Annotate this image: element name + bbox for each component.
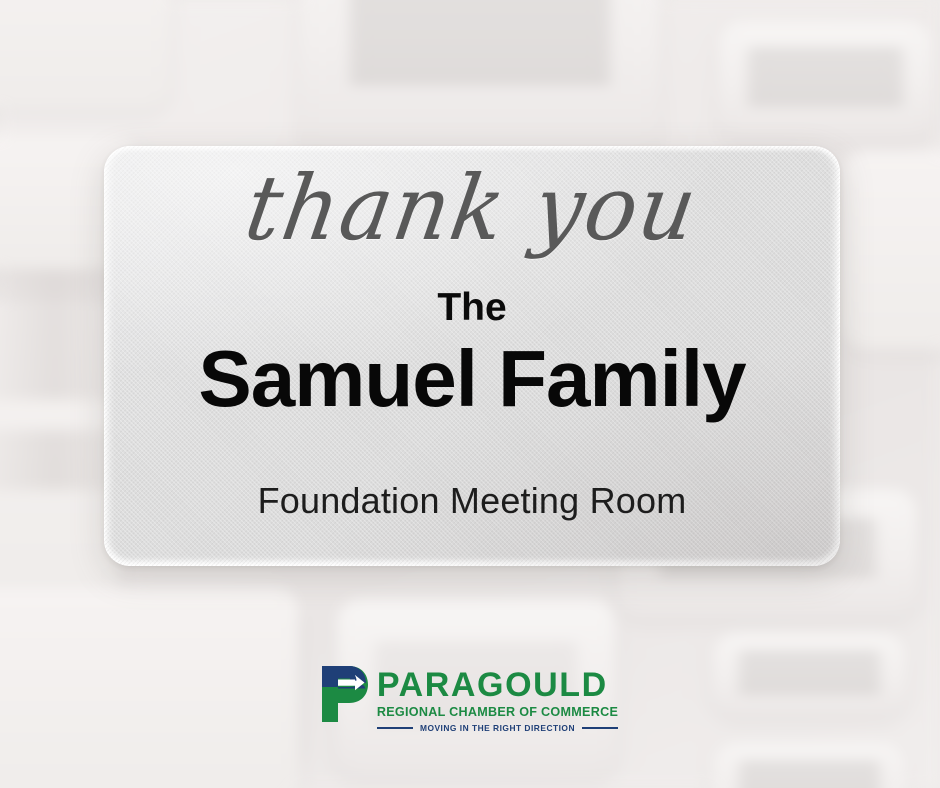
thank-you-script: thank you <box>240 164 704 253</box>
chamber-tagline: MOVING IN THE RIGHT DIRECTION <box>420 724 575 732</box>
background-plaque <box>300 0 660 155</box>
tagline-rule-left <box>377 727 413 729</box>
room-name: Foundation Meeting Room <box>258 483 687 519</box>
chamber-logo-wordmark: PARAGOULD REGIONAL CHAMBER OF COMMERCE M… <box>377 666 618 732</box>
chamber-subtitle: REGIONAL CHAMBER OF COMMERCE <box>377 706 618 719</box>
chamber-logo: PARAGOULD REGIONAL CHAMBER OF COMMERCE M… <box>0 666 940 732</box>
award-plaque: thank you The Samuel Family Foundation M… <box>104 146 840 566</box>
background-plaque-text <box>748 51 903 106</box>
chamber-name: PARAGOULD <box>377 668 618 702</box>
chamber-tagline-row: MOVING IN THE RIGHT DIRECTION <box>377 724 618 732</box>
background-plaque-text <box>739 764 879 788</box>
background-plaque <box>840 150 940 350</box>
honoree-prefix: The <box>437 288 506 327</box>
background-plaque <box>0 0 170 110</box>
tagline-rule-right <box>582 727 618 729</box>
background-plaque <box>712 742 907 788</box>
plaque-poster: thank you The Samuel Family Foundation M… <box>0 0 940 788</box>
plaque-content: thank you The Samuel Family Foundation M… <box>104 146 840 566</box>
chamber-logo-inner: PARAGOULD REGIONAL CHAMBER OF COMMERCE M… <box>322 666 618 732</box>
honoree-name: Samuel Family <box>198 337 745 421</box>
background-plaque <box>718 20 933 140</box>
paragould-p-arrow-icon <box>322 666 368 722</box>
background-plaque-text <box>350 0 609 85</box>
